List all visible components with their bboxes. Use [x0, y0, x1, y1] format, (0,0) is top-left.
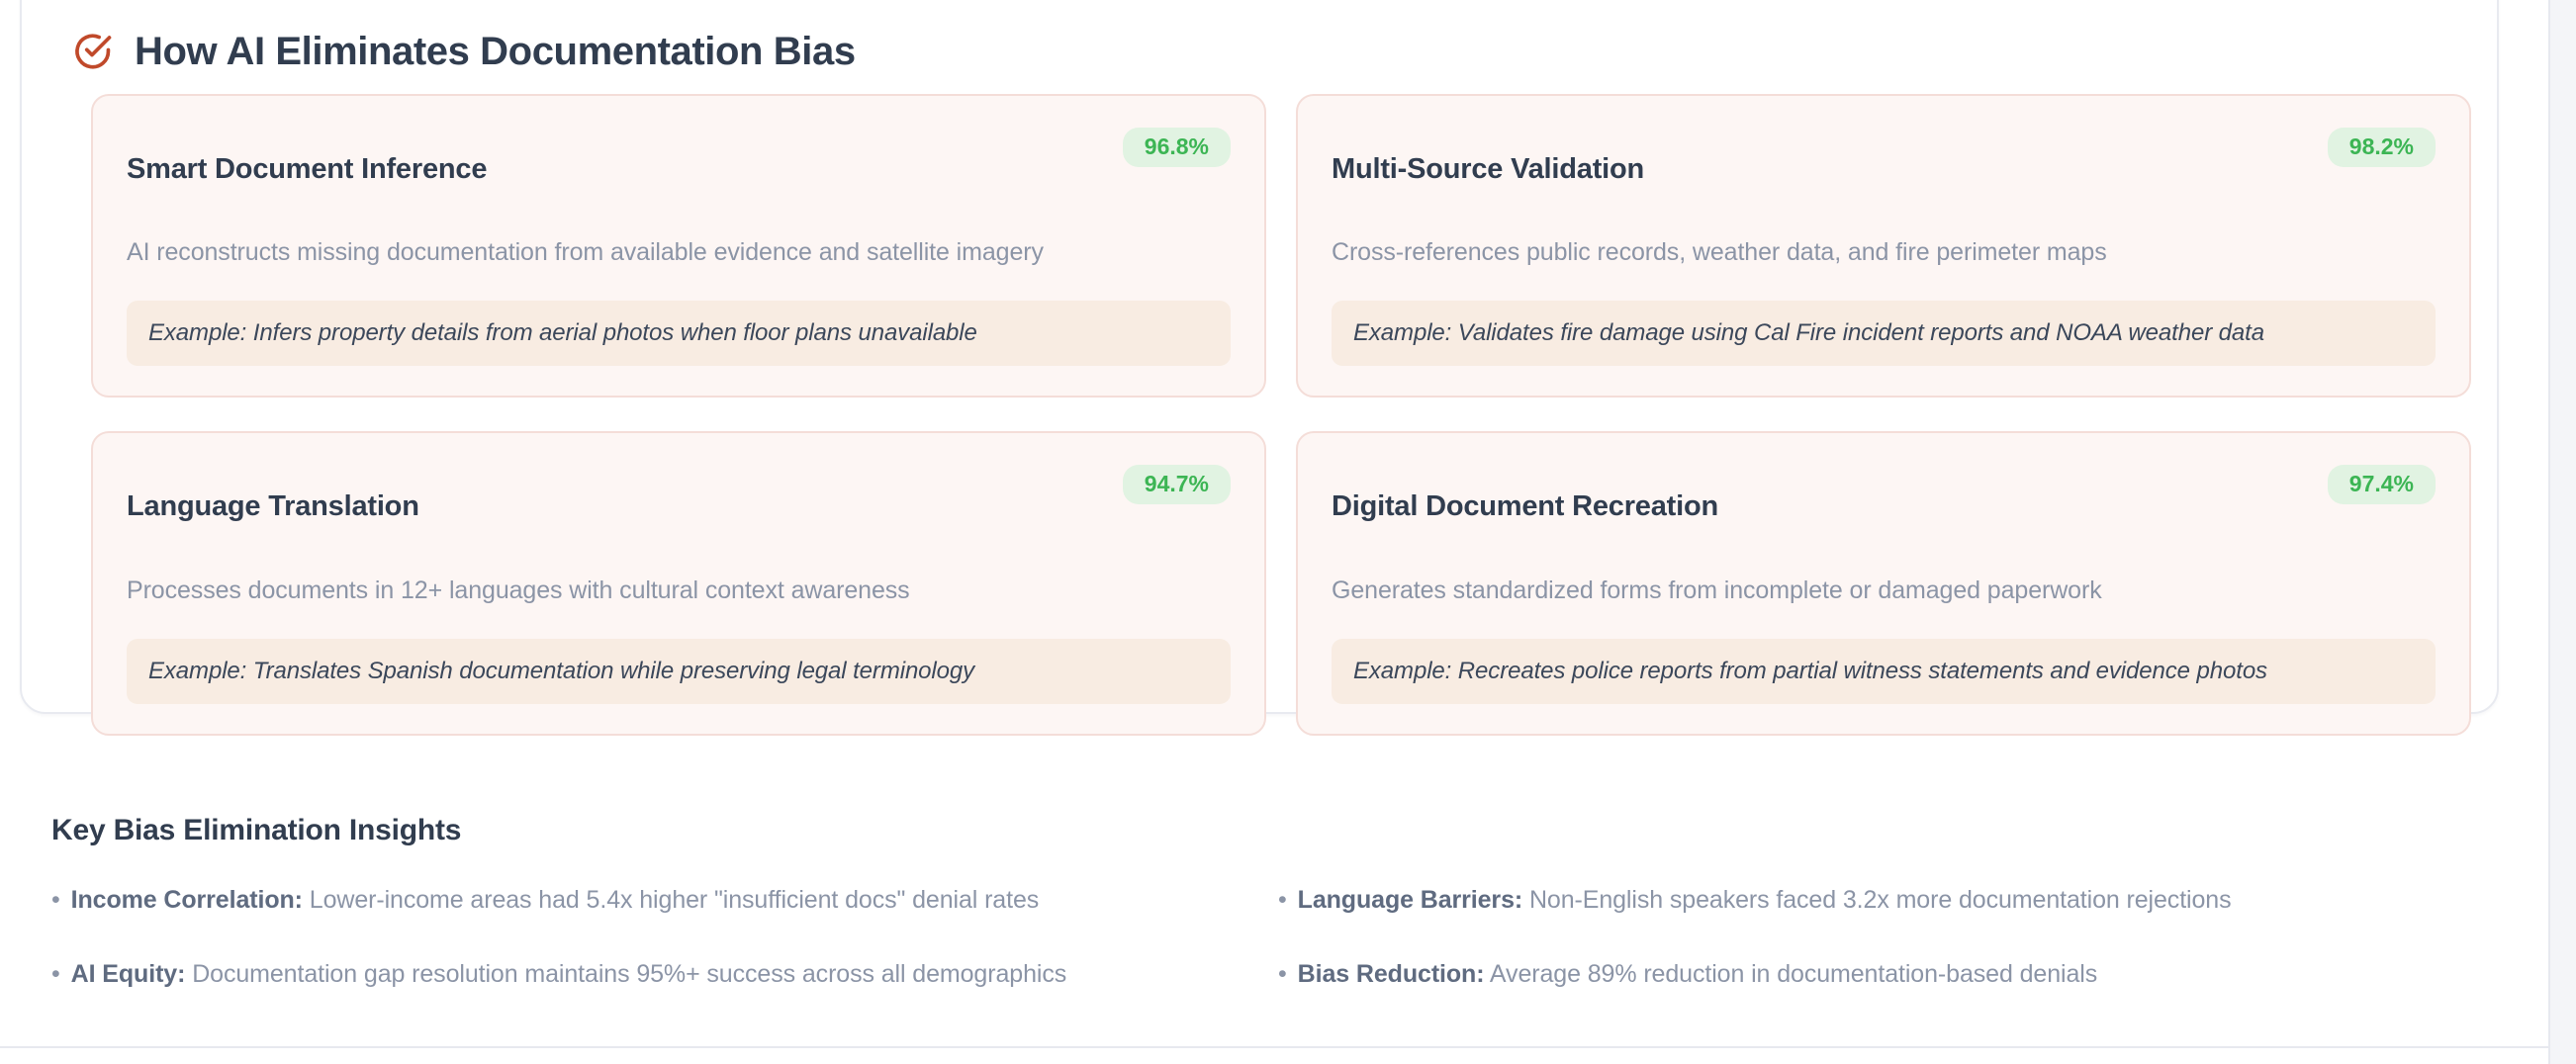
insight-text: Lower-income areas had 5.4x higher "insu…: [310, 886, 1039, 914]
bullet-icon: •: [1278, 888, 1287, 913]
bullet-icon: •: [51, 962, 60, 987]
card-example: Example: Validates fire damage using Cal…: [1332, 301, 2436, 366]
card-description: Processes documents in 12+ languages wit…: [127, 575, 1231, 608]
documentation-bias-panel: How AI Eliminates Documentation Bias Sma…: [20, 0, 2499, 714]
card-header: Digital Document Recreation 97.4%: [1332, 467, 2436, 547]
insight-label: Income Correlation:: [71, 886, 303, 914]
insight-item-ai-equity: • AI Equity: Documentation gap resolutio…: [51, 959, 1278, 990]
accuracy-badge: 98.2%: [2328, 128, 2436, 167]
insight-text: Average 89% reduction in documentation-b…: [1490, 960, 2097, 988]
page-title: How AI Eliminates Documentation Bias: [135, 32, 856, 71]
bullet-icon: •: [1278, 962, 1287, 987]
card-description: Generates standardized forms from incomp…: [1332, 575, 2436, 608]
feature-card-language-translation[interactable]: Language Translation 94.7% Processes doc…: [91, 431, 1266, 735]
card-title: Digital Document Recreation: [1332, 490, 1718, 523]
insights-title: Key Bias Elimination Insights: [51, 816, 2475, 845]
insight-item-language-barriers: • Language Barriers: Non-English speaker…: [1278, 885, 2475, 916]
feature-card-digital-document-recreation[interactable]: Digital Document Recreation 97.4% Genera…: [1296, 431, 2471, 735]
bottom-divider: [0, 1046, 2548, 1048]
card-title: Multi-Source Validation: [1332, 153, 1644, 186]
insight-label: Language Barriers:: [1298, 886, 1522, 914]
insight-text: Non-English speakers faced 3.2x more doc…: [1529, 886, 2232, 914]
feature-card-multi-source-validation[interactable]: Multi-Source Validation 98.2% Cross-refe…: [1296, 94, 2471, 398]
card-example: Example: Infers property details from ae…: [127, 301, 1231, 366]
card-title: Smart Document Inference: [127, 153, 487, 186]
insight-label: Bias Reduction:: [1298, 960, 1485, 988]
accuracy-badge: 94.7%: [1123, 465, 1231, 504]
card-header: Language Translation 94.7%: [127, 467, 1231, 547]
insight-body: Income Correlation: Lower-income areas h…: [71, 885, 1040, 916]
insight-item-bias-reduction: • Bias Reduction: Average 89% reduction …: [1278, 959, 2475, 990]
insight-body: AI Equity: Documentation gap resolution …: [71, 959, 1066, 990]
card-example: Example: Translates Spanish documentatio…: [127, 639, 1231, 704]
key-insights-section: Key Bias Elimination Insights • Income C…: [51, 791, 2475, 990]
insight-item-income-correlation: • Income Correlation: Lower-income areas…: [51, 885, 1278, 916]
insight-body: Bias Reduction: Average 89% reduction in…: [1298, 959, 2097, 990]
card-description: AI reconstructs missing documentation fr…: [127, 236, 1231, 270]
insight-text: Documentation gap resolution maintains 9…: [192, 960, 1066, 988]
card-title: Language Translation: [127, 490, 419, 523]
page-scrollbar-gutter[interactable]: [2548, 0, 2576, 1064]
insight-label: AI Equity:: [71, 960, 186, 988]
check-circle-icon: [71, 31, 113, 72]
accuracy-badge: 96.8%: [1123, 128, 1231, 167]
page-root: How AI Eliminates Documentation Bias Sma…: [0, 0, 2576, 1064]
insights-grid: • Income Correlation: Lower-income areas…: [51, 885, 2475, 991]
feature-grid: Smart Document Inference 96.8% AI recons…: [91, 94, 2471, 736]
insight-body: Language Barriers: Non-English speakers …: [1298, 885, 2232, 916]
card-example: Example: Recreates police reports from p…: [1332, 639, 2436, 704]
card-description: Cross-references public records, weather…: [1332, 236, 2436, 270]
content-column: How AI Eliminates Documentation Bias Sma…: [0, 0, 2548, 1064]
feature-card-smart-document-inference[interactable]: Smart Document Inference 96.8% AI recons…: [91, 94, 1266, 398]
card-header: Multi-Source Validation 98.2%: [1332, 130, 2436, 210]
card-header: Smart Document Inference 96.8%: [127, 130, 1231, 210]
accuracy-badge: 97.4%: [2328, 465, 2436, 504]
bullet-icon: •: [51, 888, 60, 913]
panel-header: How AI Eliminates Documentation Bias: [71, 5, 856, 98]
